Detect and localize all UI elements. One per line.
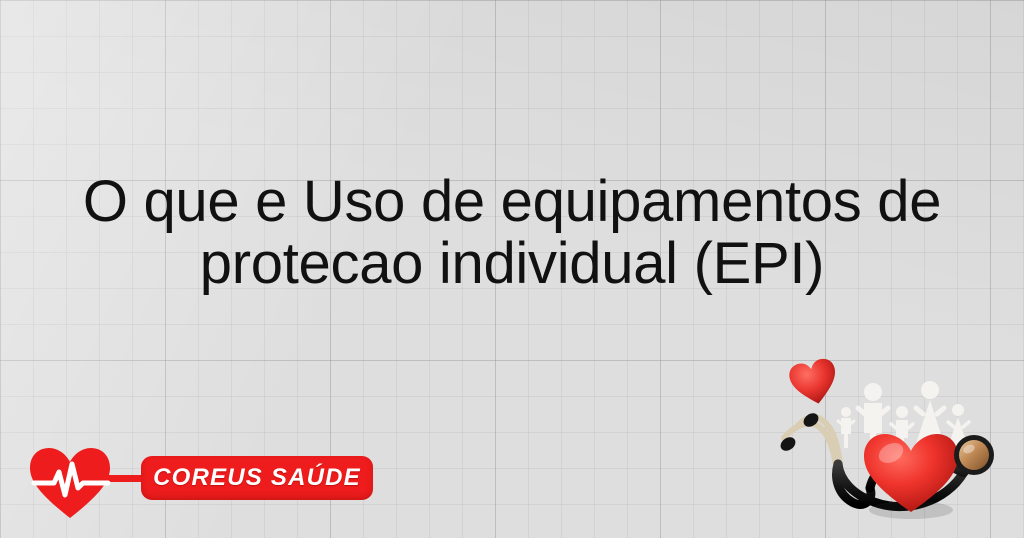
title-line-2: protecao individual (EPI)	[24, 233, 1000, 295]
page-title: O que e Uso de equipamentos de protecao …	[0, 171, 1024, 295]
brand-name-label: COREUS SAÚDE	[141, 456, 373, 500]
heart-pulse-icon	[28, 446, 112, 520]
title-line-1: O que e Uso de equipamentos de	[24, 171, 1000, 233]
stethoscope-heart-family-illustration	[778, 352, 1016, 530]
large-heart-icon	[864, 434, 958, 519]
slide-canvas: O que e Uso de equipamentos de protecao …	[0, 0, 1024, 538]
brand-name-pill: COREUS SAÚDE	[141, 456, 373, 500]
small-heart-icon	[787, 357, 841, 409]
stethoscope-chestpiece-icon	[954, 435, 994, 475]
brand-logo: COREUS SAÚDE	[28, 442, 358, 512]
